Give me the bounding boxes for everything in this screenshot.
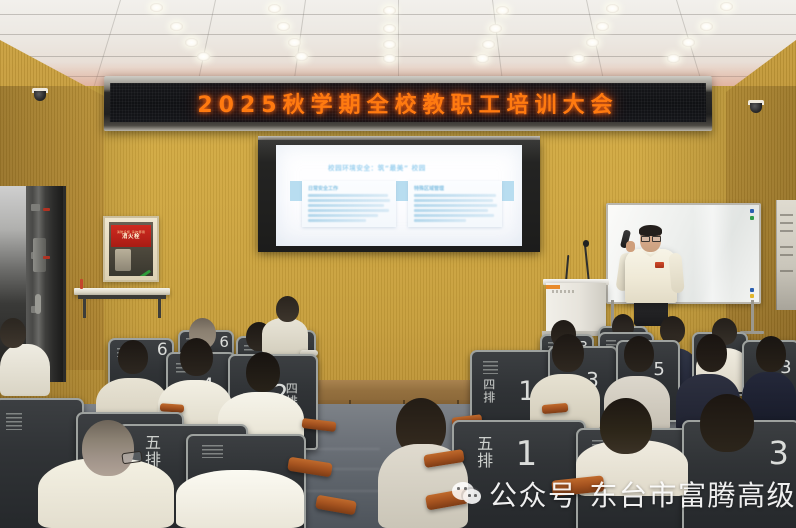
attendee-head: [756, 336, 786, 372]
presenter-hair: [639, 225, 662, 236]
presenter-hand: [626, 241, 635, 252]
seat-row-label: 五排: [475, 435, 491, 469]
led-screen: 2025秋学期全校教职工培训大会: [110, 83, 706, 122]
projection-surround: 校园环境安全：筑“最美” 校园 日常安全工作 特殊区域管理: [258, 140, 540, 252]
attendee-head: [624, 336, 654, 372]
whiteboard-leg: [751, 300, 754, 333]
fire-hose: [115, 249, 131, 271]
attendee-head: [276, 296, 299, 322]
podium-emblem: [552, 290, 574, 293]
security-camera-right: [748, 100, 764, 113]
ceiling-light: [150, 3, 163, 12]
ceiling-light: [295, 52, 308, 61]
attendee-head: [696, 334, 727, 372]
ceiling-light: [170, 22, 183, 31]
attendee-head: [118, 340, 148, 374]
table-apron: [78, 295, 166, 299]
security-camera-left: [32, 88, 48, 101]
fire-sign-text: 消火栓: [122, 234, 140, 240]
wall-control-panel: [776, 200, 796, 310]
magnet-blue: [750, 288, 754, 292]
ceiling-light: [277, 22, 290, 31]
ceiling-light: [383, 40, 396, 49]
attendee-head: [0, 318, 26, 348]
shirt-logo: [655, 262, 664, 268]
seat: 1 五排: [452, 420, 586, 528]
attendee-shoulders: [0, 344, 50, 396]
attendee-head: [246, 352, 280, 392]
ceiling-light: [185, 38, 198, 47]
ceiling-light: [482, 40, 495, 49]
auditorium-photo: 2025秋学期全校教职工培训大会 校园环境安全：筑“最美” 校园 日常安全工作 …: [0, 0, 796, 528]
podium-accent-stripe: [546, 285, 560, 289]
ceiling-light: [586, 38, 599, 47]
table-leg: [158, 298, 161, 318]
ceiling-light: [700, 22, 713, 31]
attendee-head: [600, 398, 652, 454]
magnet-green: [750, 216, 754, 220]
attendee-head: [82, 420, 134, 476]
attendee-head: [552, 334, 584, 372]
ceiling-light: [383, 24, 396, 33]
ceiling-light: [268, 4, 281, 13]
attendee-head: [700, 394, 754, 452]
folding-table: [74, 288, 170, 295]
ceiling-light: [489, 24, 502, 33]
attendee-head: [180, 338, 213, 376]
fire-hose-nozzle-line: [128, 270, 151, 276]
slide-block-heading: 特殊区域管理: [414, 185, 444, 192]
fire-cabinet-sign: 消防设施 请勿挪用 消火栓: [111, 225, 151, 247]
seat-number: 6: [219, 335, 229, 350]
ceiling-light: [288, 38, 301, 47]
ceiling-light: [383, 6, 396, 15]
ceiling-light: [496, 6, 509, 15]
table-item: [80, 279, 83, 289]
table-leg: [83, 298, 86, 318]
magnet-blue: [750, 209, 754, 213]
seat-number: 3: [769, 437, 789, 469]
ceiling-light: [596, 22, 609, 31]
magnet-yellow: [750, 294, 754, 298]
ceiling-light: [606, 4, 619, 13]
seat-number: 5: [653, 361, 664, 379]
presenter-glasses: [641, 236, 660, 240]
attendee-shoulders: [262, 318, 308, 354]
slide-text-block: 日常安全工作: [302, 181, 396, 227]
ceiling-light: [720, 2, 733, 11]
led-banner-text: 2025秋学期全校教职工培训大会: [197, 87, 618, 119]
attendee-shoulders: [176, 470, 304, 528]
ceiling-light: [197, 52, 210, 61]
seat-number: 1: [516, 437, 538, 471]
ceiling-light: [682, 38, 695, 47]
microphone-capsule: [583, 240, 589, 247]
fire-hose-cabinet: 消防设施 请勿挪用 消火栓: [103, 216, 159, 282]
led-banner: 2025秋学期全校教职工培训大会: [104, 76, 712, 131]
slide-title: 校园环境安全：筑“最美” 校园: [328, 162, 426, 172]
slide-text-block: 特殊区域管理: [408, 181, 502, 227]
slide-block-heading: 日常安全工作: [308, 185, 338, 192]
projection-screen: 校园环境安全：筑“最美” 校园 日常安全工作 特殊区域管理: [276, 145, 522, 246]
seat-row-label: 四排: [483, 378, 495, 404]
